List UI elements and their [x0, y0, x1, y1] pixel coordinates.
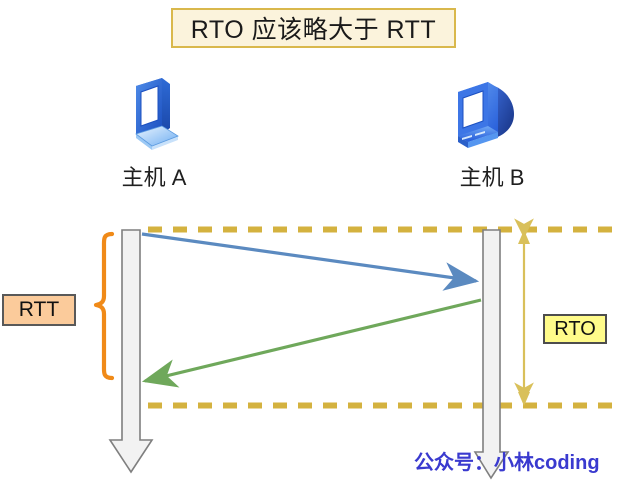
rto-label-text: RTO [554, 318, 596, 341]
rtt-label: RTT [2, 294, 76, 326]
host-a-timeline [110, 230, 152, 472]
host-b-timeline [475, 230, 508, 478]
data-packet-arrow [142, 234, 476, 281]
ack-packet-arrow [145, 300, 481, 381]
rto-label: RTO [543, 314, 607, 344]
diagram-vectors [0, 0, 617, 482]
rtt-brace [96, 234, 112, 378]
watermark-text: 公众号：小林coding [414, 446, 600, 475]
diagram-canvas: RTO 应该略大于 RTT [0, 0, 617, 482]
rtt-label-text: RTT [19, 298, 59, 322]
